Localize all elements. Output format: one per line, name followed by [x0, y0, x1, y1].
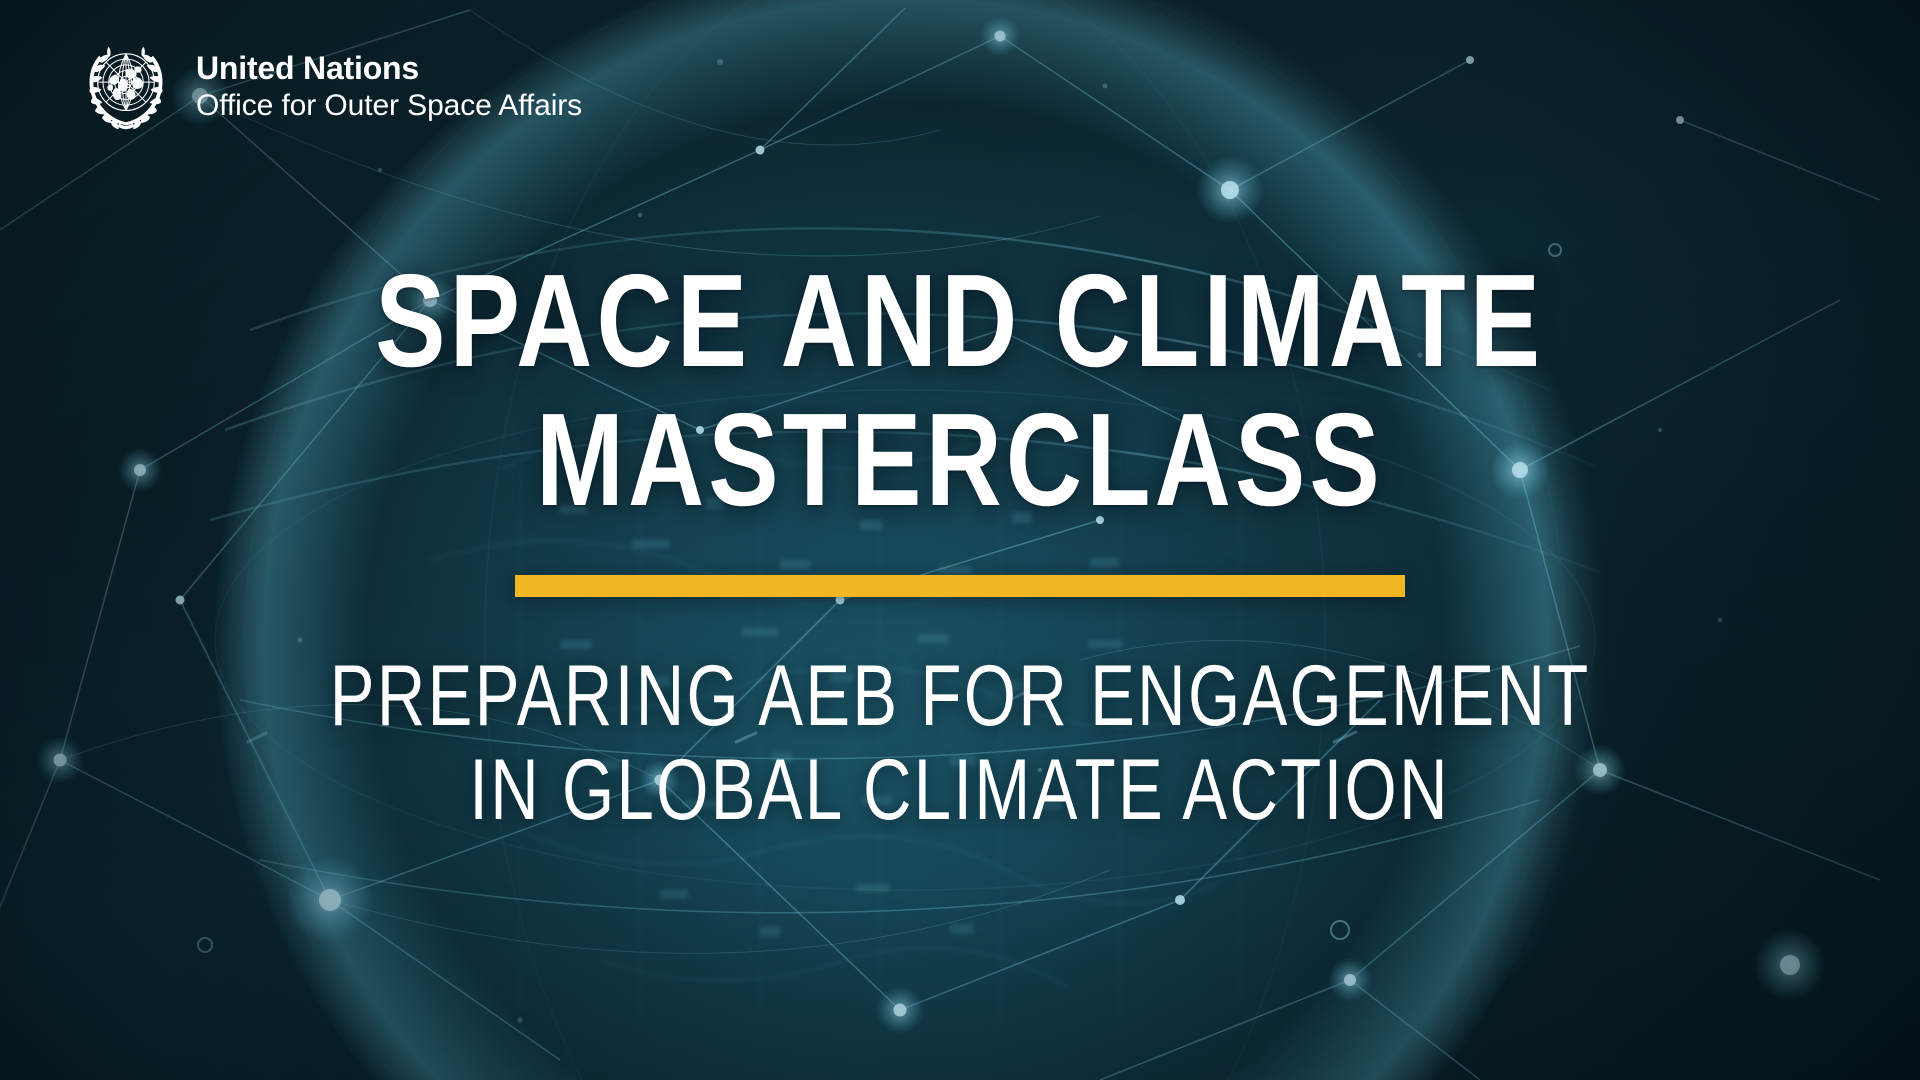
logo-office-name: Office for Outer Space Affairs [196, 91, 582, 121]
logo-organisation-name: United Nations [196, 52, 582, 84]
main-title-line-2: MASTERCLASS [536, 397, 1384, 524]
main-title-line-1: SPACE AND CLIMATE [376, 258, 1545, 385]
title-slide: United Nations Office for Outer Space Af… [0, 0, 1920, 1080]
subtitle-line-2: IN GLOBAL CLIMATE ACTION [470, 747, 1451, 835]
logo-text-block: United Nations Office for Outer Space Af… [196, 52, 582, 121]
subtitle-line-1: PREPARING AEB FOR ENGAGEMENT [330, 653, 1591, 741]
un-oosa-logo: United Nations Office for Outer Space Af… [78, 38, 582, 134]
title-block: SPACE AND CLIMATE MASTERCLASS PREPARING … [0, 258, 1920, 835]
un-emblem-icon [78, 38, 174, 134]
subtitle-block: PREPARING AEB FOR ENGAGEMENT IN GLOBAL C… [152, 653, 1768, 834]
accent-divider-bar [515, 575, 1405, 597]
